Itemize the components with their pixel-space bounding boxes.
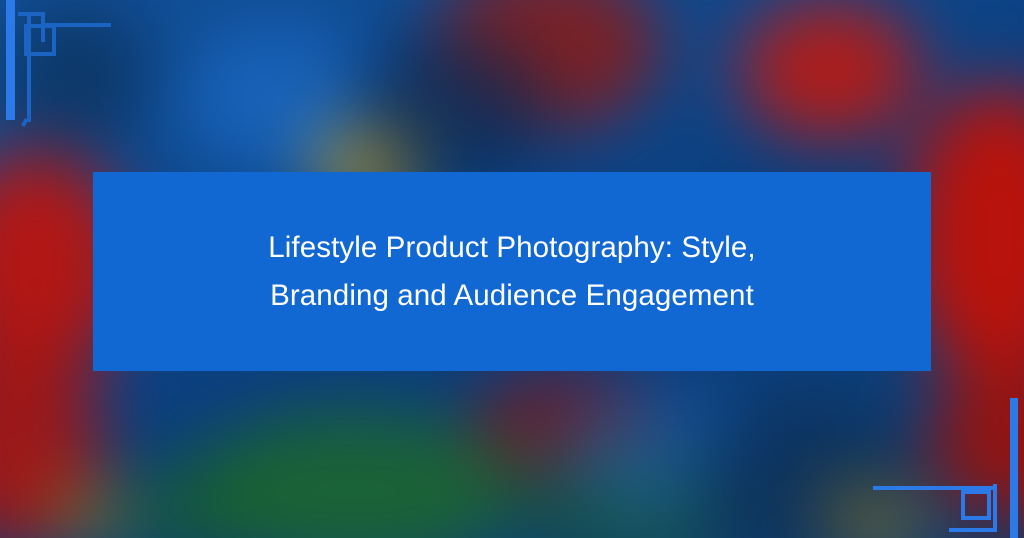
page-title: Lifestyle Product Photography: Style, Br…: [268, 224, 755, 320]
bg-blob-navy-dark-center: [350, 30, 550, 190]
page-title-line-1: Lifestyle Product Photography: Style,: [268, 231, 755, 264]
bg-blob-navy-dark-left: [0, 0, 150, 150]
bg-blob-red-top-right: [740, 0, 920, 140]
title-banner: Lifestyle Product Photography: Style, Br…: [93, 172, 931, 371]
article-header-card: Lifestyle Product Photography: Style, Br…: [0, 0, 1024, 538]
page-title-line-2: Branding and Audience Engagement: [270, 279, 754, 312]
